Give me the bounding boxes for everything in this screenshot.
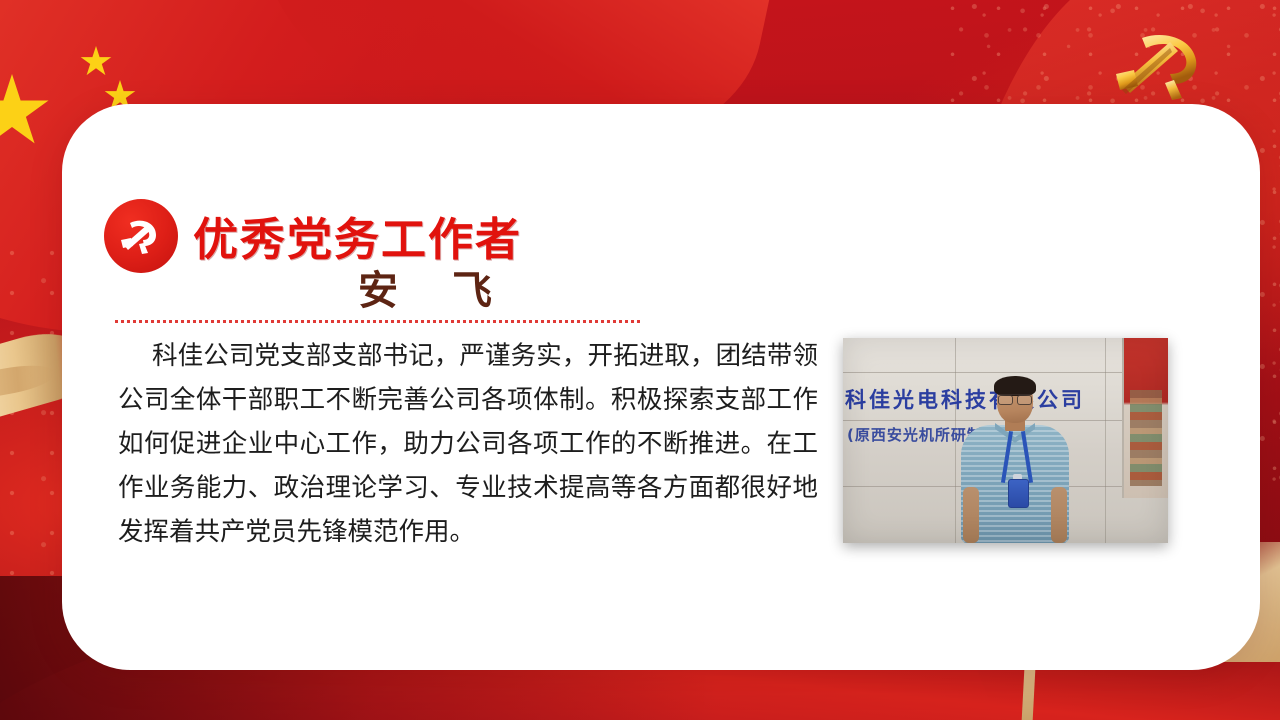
photo-person (961, 379, 1069, 543)
person-photo: 科佳光电科技有限公司 (原西安光机所研制工厂) (843, 338, 1168, 543)
person-hair (994, 376, 1036, 396)
slide-root: 优秀党务工作者 安 飞 科佳公司党支部支部书记，严谨务实，开拓进取，团结带领公司… (0, 0, 1280, 720)
wall-bulletin-board (1122, 338, 1168, 498)
dotted-divider (115, 320, 642, 323)
person-arm-right (1051, 487, 1067, 543)
person-id-badge (1008, 479, 1029, 508)
person-arm-left (963, 487, 979, 543)
wall-seam (843, 372, 1168, 373)
party-emblem-gold-icon (1108, 26, 1216, 104)
wall-seam-vertical (1105, 338, 1106, 543)
person-glasses (998, 394, 1032, 403)
bulletin-board-content (1130, 390, 1162, 486)
party-emblem-badge (104, 199, 178, 273)
description-paragraph: 科佳公司党支部支部书记，严谨务实，开拓进取，团结带领公司全体干部职工不断完善公司… (118, 334, 818, 554)
hammer-sickle-icon (118, 213, 164, 259)
glasses-lens-left (998, 395, 1013, 405)
glasses-lens-right (1017, 395, 1032, 405)
person-name: 安 飞 (358, 258, 514, 316)
